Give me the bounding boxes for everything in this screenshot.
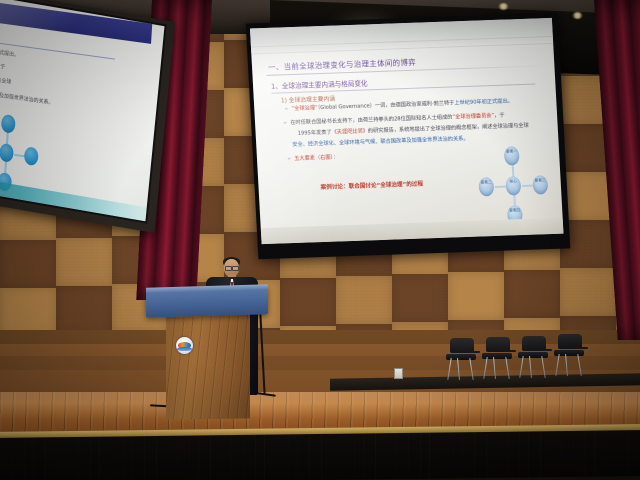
skirt-fold [198,435,199,480]
diagram-node-center: 核心 [505,176,521,195]
bullet-marker: ➢ [284,106,289,112]
skirt-fold [375,433,376,479]
skirt-fold [57,437,58,480]
wall-panel-tile [560,268,616,316]
wall-panel-tile [0,288,56,336]
skirt-fold [420,433,421,479]
chair-armrest [540,349,552,351]
skirt-fold [474,432,475,478]
skirt-fold [321,434,322,480]
slide-bullet: 1995年发表了《天涯咫比邻》的研究报告，系统地提出了全球治理的概念框架，阐述全… [298,124,529,138]
slide-text-run: 1995年发表了 [298,130,332,137]
podium-body [166,312,250,419]
skirt-fold [408,433,409,479]
slide-subsection: 1) 全球治理主要内涵 [281,94,336,105]
skirt-fold [144,436,145,480]
slide-text-run: “全球治理” [291,105,317,112]
skirt-fold [255,435,256,480]
skirt-fold [342,434,343,480]
slide-text-run: 在时任联合国秘书长支持下，由荷兰持拳头的28位国际知名人士组成的 [290,114,452,126]
podium-emblem [176,337,193,354]
skirt-fold [222,435,223,480]
slide-bullet: ➢五大要素（右图）： [287,155,339,163]
photo-scene: 一、当前全球治理变化与治理主体间的博弈 1、全球治理主要内涵与格局变化 1) 全… [0,0,640,480]
slide-text-run: 《天涯咫比邻》 [331,128,368,135]
slide-text-run: 上世纪90年初正式提出。 [454,98,513,106]
skirt-fold [111,437,112,480]
skirt-fold [429,433,430,479]
skirt-fold [441,433,442,479]
wall-panel-tile [0,240,56,288]
wall-panel-tile [280,278,336,326]
skirt-fold [387,433,388,479]
skirt-fold [540,431,541,477]
skirt-fold [165,436,166,480]
cross-node-diagram: 要素一 要素二 核心 要素三 要素四 [468,140,559,227]
slide-text-run: （Global Governance）一词，由德国政治家威利·勃兰特于 [318,100,455,111]
wall-panel-tile [56,238,112,286]
slide-text-run: 五大要素（右图）： [294,154,338,162]
skirt-fold [618,430,619,476]
slide-text-run: 的研究报告，系统地提出了全球治理的概念框架，阐述全球治理与全球 [368,123,529,135]
skirt-fold [585,431,586,477]
skirt-fold [552,431,553,477]
skirt-fold [288,434,289,480]
ceiling-light [572,12,583,19]
skirt-fold [363,433,364,479]
skirt-fold [519,432,520,478]
bullet-marker: ➢ [283,120,288,126]
skirt-fold [330,434,331,480]
diagram-node-label: 要素三 [532,178,547,184]
skirt-fold [33,437,34,480]
skirt-fold [297,434,298,480]
monitor-glare [0,0,85,221]
slide-bullet: 安全、经济全球化、全球环境与气候、联合国改革及加强全世界法治的关系。 [292,137,469,149]
wall-panel-tile [392,274,448,322]
slide-text-run: ，于 [494,113,505,119]
ceiling-light [498,3,509,10]
skirt-fold [354,434,355,480]
skirt-fold [189,436,190,480]
skirt-fold [24,438,25,480]
bullet-marker: ➢ [287,156,292,162]
skirt-fold [12,438,13,480]
diagram-node-right: 要素三 [532,175,548,194]
skirt-fold [495,432,496,478]
slide-text-run: 安全、经济全球化、全球环境与气候、联合国改革及加强全世界法治的关系。 [292,136,469,148]
skirt-fold [210,435,211,480]
wall-panel-tile [504,270,560,318]
skirt-fold [528,431,529,477]
skirt-fold [45,437,46,480]
skirt-fold [462,432,463,478]
stage-skirt [0,430,640,480]
skirt-fold [264,435,265,480]
skirt-fold [243,435,244,480]
monitor-bezel: 全球治理的博弈 由德国政治家威利·勃兰特于上世纪90年初正式提出。的28位国际知… [0,0,167,224]
skirt-fold [396,433,397,479]
wall-panel-tile [448,272,504,320]
skirt-fold [507,432,508,478]
skirt-fold [453,432,454,478]
projection-surface: 一、当前全球治理变化与治理主体间的博弈 1、全球治理主要内涵与格局变化 1) 全… [250,18,564,244]
skirt-fold [561,431,562,477]
wall-panel-tile [336,276,392,324]
skirt-fold [90,437,91,480]
skirt-fold [606,430,607,476]
skirt-fold [66,437,67,480]
skirt-fold [486,432,487,478]
skirt-fold [132,436,133,480]
diagram-node-label: 要素一 [504,149,519,155]
wall-panel-tile [56,286,112,334]
slide-text-run: “全球治理委员会” [452,113,494,120]
skirt-fold [276,435,277,480]
projection-screen: 一、当前全球治理变化与治理主体间的博弈 1、全球治理主要内涵与格局变化 1) 全… [246,13,571,260]
chair-armrest [468,351,480,353]
chair-armrest [504,350,516,352]
skirt-fold [156,436,157,480]
skirt-fold [78,437,79,480]
skirt-fold [594,431,595,477]
monitor-screen: 全球治理的博弈 由德国政治家威利·勃兰特于上世纪90年初正式提出。的28位国际知… [0,0,165,221]
skirt-fold [309,434,310,480]
diagram-node-top: 要素一 [504,146,520,165]
diagram-node-label: 要素二 [479,180,494,186]
slide-example-note: 案例讨论：联合国讨论“全球治理”的过程 [320,180,423,192]
skirt-fold [231,435,232,480]
diagram-node-left: 要素二 [478,177,494,196]
skirt-fold [99,437,100,480]
skirt-fold [573,431,574,477]
side-monitor: 全球治理的博弈 由德国政治家威利·勃兰特于上世纪90年初正式提出。的28位国际知… [0,0,175,233]
skirt-fold [177,436,178,480]
skirt-fold [123,436,124,480]
skirt-fold [0,438,1,480]
slide-content: 一、当前全球治理变化与治理主体间的博弈 1、全球治理主要内涵与格局变化 1) 全… [251,44,563,244]
diagram-node-label: 要素四 [507,208,522,214]
skirt-fold [627,430,628,476]
wall-socket [394,368,403,379]
slide-section: 1、全球治理主要内涵与格局变化 [271,77,368,90]
diagram-node-label: 核心 [506,179,521,185]
